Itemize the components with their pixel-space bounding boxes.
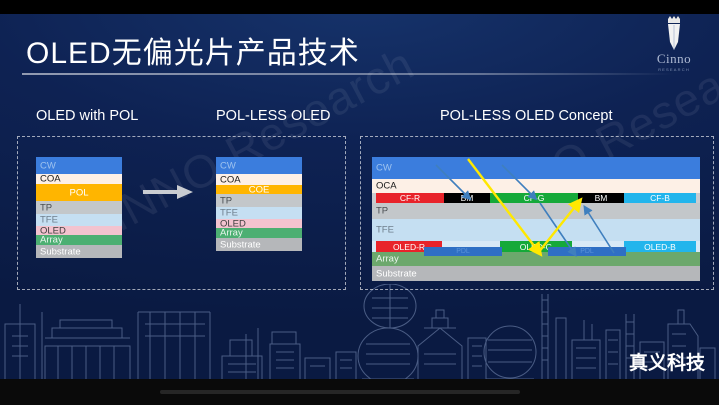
layer-label: CW <box>376 163 392 174</box>
layer-label: TP <box>40 202 52 213</box>
cinno-logo: Cinno RESEARCH <box>647 16 701 72</box>
section-caption-pol-less-oled: POL-LESS OLED <box>216 108 330 124</box>
color-filter-bm: BM <box>578 193 624 203</box>
logo-subtitle: RESEARCH <box>647 67 701 72</box>
concept-diagram: CWOCACF-RBMCF-GBMCF-BTPTFEOLED-ROLED-GOL… <box>372 157 700 281</box>
pdl-bar: PDL <box>424 247 502 256</box>
polless-layer-tp: TP <box>216 194 302 207</box>
slide-canvas: CINNO Research CINNO Research OLED无偏光片产品… <box>0 0 719 405</box>
concept-layer-band5: OLED-ROLED-GOLED-BPDLPDL <box>372 241 700 252</box>
footer-brand: 真义科技 <box>629 348 705 375</box>
pol-layer-pol: POL <box>36 184 122 201</box>
layer-label: Array <box>220 228 243 239</box>
concept-layer-tp: TP <box>372 203 700 219</box>
page-title: OLED无偏光片产品技术 <box>26 28 360 72</box>
progress-scrubber[interactable] <box>160 390 520 394</box>
pol-layer-coa: COA <box>36 174 122 184</box>
layer-label: Substrate <box>376 268 417 279</box>
pdl-bar: PDL <box>548 247 626 256</box>
pol-layer-cw: CW <box>36 157 122 174</box>
polless-layer-substrate: Substrate <box>216 238 302 251</box>
layer-label: POL <box>69 187 88 198</box>
concept-layer-cw: CW <box>372 157 700 179</box>
layer-label: TP <box>376 206 388 217</box>
layer-label: Array <box>40 235 63 246</box>
layer-stack-pol-less: CWCOACOETPTFEOLEDArraySubstrate <box>216 157 302 251</box>
city-skyline-decoration <box>0 284 719 379</box>
polless-layer-cw: CW <box>216 157 302 174</box>
pol-layer-substrate: Substrate <box>36 245 122 258</box>
layer-label: COA <box>220 174 241 185</box>
color-filter-cf-g: CF-G <box>490 193 578 203</box>
color-filter-bm: BM <box>444 193 490 203</box>
layer-label: TP <box>220 195 232 206</box>
concept-layer-oca: OCA <box>372 179 700 193</box>
layer-label: CW <box>220 160 236 171</box>
section-caption-pol-less-concept: POL-LESS OLED Concept <box>440 108 612 124</box>
layer-label: Array <box>376 254 399 265</box>
layer-label: COA <box>40 174 61 185</box>
color-filter-cf-r: CF-R <box>376 193 444 203</box>
concept-layer-tfe: TFE <box>372 219 700 241</box>
polless-layer-array: Array <box>216 228 302 238</box>
color-filter-cf-b: CF-B <box>624 193 696 203</box>
logo-wordmark: Cinno <box>647 51 701 67</box>
crown-icon <box>663 16 685 50</box>
title-underline <box>22 73 674 75</box>
concept-layer-band2: CF-RBMCF-GBMCF-B <box>372 193 700 203</box>
layer-label: TFE <box>376 225 394 236</box>
layer-stack-with-pol: CWCOAPOLTPTFEOLEDArraySubstrate <box>36 157 122 258</box>
layer-label: Substrate <box>220 239 261 250</box>
player-bottom-bar <box>0 379 719 405</box>
emitter-oled-b: OLED-B <box>624 241 696 252</box>
transition-arrow-icon <box>143 184 193 200</box>
concept-layer-substrate: Substrate <box>372 266 700 281</box>
concept-layer-array: Array <box>372 252 700 266</box>
pol-layer-array: Array <box>36 235 122 245</box>
section-caption-oled-with-pol: OLED with POL <box>36 108 138 124</box>
layer-label: TFE <box>40 215 58 226</box>
layer-label: CW <box>40 160 56 171</box>
polless-layer-coe: COE <box>216 185 302 194</box>
letterbox-top <box>0 0 719 14</box>
layer-label: TFE <box>220 208 238 219</box>
layer-label: OCA <box>376 181 397 192</box>
pol-layer-tp: TP <box>36 201 122 214</box>
layer-label: Substrate <box>40 246 81 257</box>
